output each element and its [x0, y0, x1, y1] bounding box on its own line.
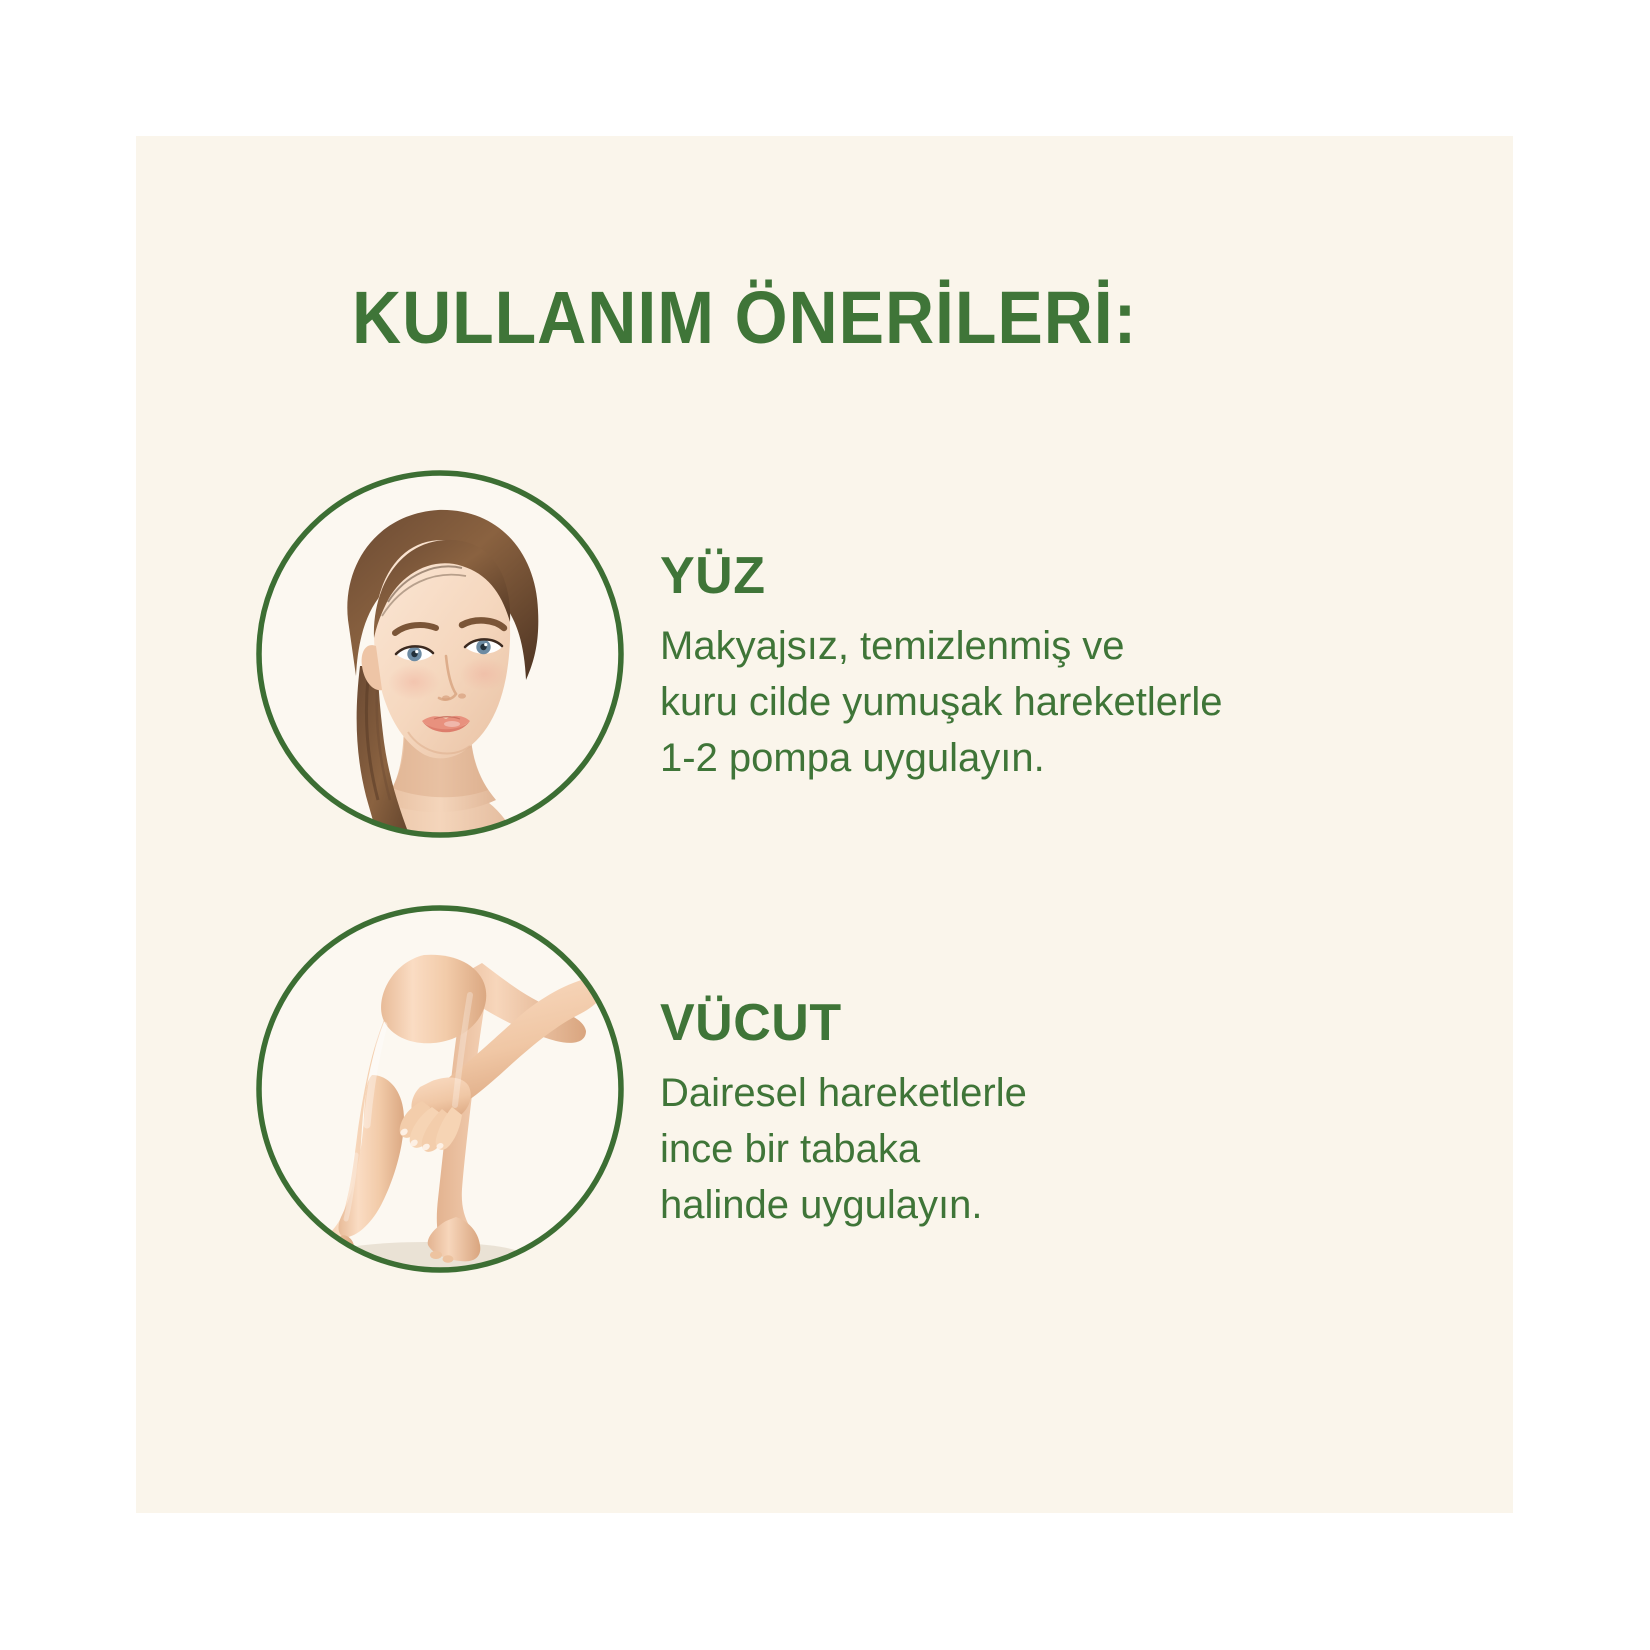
woman-face-photo — [256, 470, 624, 838]
body-heading: VÜCUT — [660, 995, 1027, 1051]
face-circle — [256, 470, 624, 838]
face-body-text: Makyajsız, temizlenmiş ve kuru cilde yum… — [660, 618, 1222, 786]
body-media — [256, 905, 624, 1273]
body-circle — [256, 905, 624, 1273]
page-title: KULLANIM ÖNERİLERİ: — [352, 276, 1137, 360]
body-body-text: Dairesel hareketlerle ince bir tabaka ha… — [660, 1065, 1027, 1233]
woman-legs-photo — [256, 905, 624, 1273]
body-textblock: VÜCUT Dairesel hareketlerle ince bir tab… — [660, 995, 1027, 1233]
face-media — [256, 470, 624, 838]
infographic-canvas: KULLANIM ÖNERİLERİ: — [0, 0, 1650, 1650]
face-textblock: YÜZ Makyajsız, temizlenmiş ve kuru cilde… — [660, 548, 1222, 786]
face-heading: YÜZ — [660, 548, 1222, 604]
